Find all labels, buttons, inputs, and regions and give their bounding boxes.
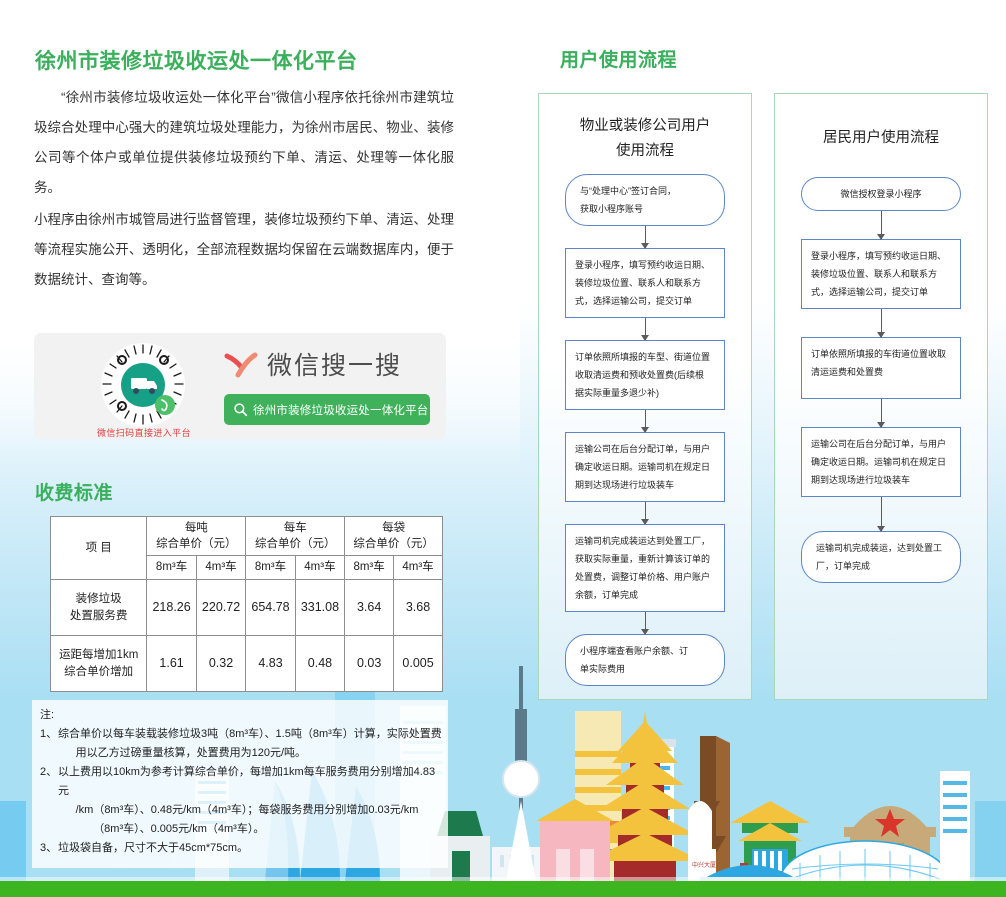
note-index-2: 2、 [40,763,58,839]
header-sub-4: 8m³车 [345,556,394,580]
fee-notes: 注: 1、 综合单价以每车装载装修垃圾3吨（8m³车）、1.5吨（8m³车）计算… [32,700,448,868]
note-text-2: 以上费用以10km为参考计算综合单价，每增加1km每车服务费用分别增加4.83元… [58,763,444,839]
flow-panel-heading-company: 物业或装修公司用户 使用流程 [539,114,751,164]
list-item: 2、 以上费用以10km为参考计算综合单价，每增加1km每车服务费用分别增加4.… [36,763,444,839]
flow-node-company-0: 与“处理中心”签订合同， 获取小程序账号 [565,174,725,226]
flow-arrow [645,612,646,634]
note-text-1: 综合单价以每车装载装修垃圾3吨（8m³车）、1.5吨（8m³车）计算，实际处置费… [58,725,444,763]
fee-table: 项 目 每吨 综合单价（元） 每车 综合单价（元） 每袋 综合单价（元） [50,516,443,692]
cell-1-2: 4.83 [246,636,295,692]
cell-1-1: 0.32 [196,636,245,692]
page-title: 徐州市装修垃圾收运处一体化平台 [35,45,358,75]
wechat-entry-card: 微信扫码直接进入平台 微信搜一搜 徐州市装修垃圾收运处一体化平台 [34,333,446,439]
cell-0-4: 3.64 [345,580,394,636]
flow-node-stack-resident: 微信授权登录小程序 登录小程序，填写预约收运日期、 装修垃圾位置、联系人和联系方… [775,177,987,583]
table-row: 装修垃圾 处置服务费 218.26 220.72 654.78 331.08 3… [51,580,443,636]
header-sub-2: 8m³车 [246,556,295,580]
cell-0-0: 218.26 [147,580,196,636]
cell-1-3: 0.48 [295,636,344,692]
cell-1-0: 1.61 [147,636,196,692]
wechat-search-block: 微信搜一搜 徐州市装修垃圾收运处一体化平台 [224,345,439,425]
flow-panel-resident: 居民用户使用流程 微信授权登录小程序 登录小程序，填写预约收运日期、 装修垃圾位… [774,93,988,700]
flow-node-stack-company: 与“处理中心”签订合同， 获取小程序账号 登录小程序，填写预约收运日期、 装修垃… [539,174,751,686]
flow-node-company-1: 登录小程序，填写预约收运日期、 装修垃圾位置、联系人和联系方 式，选择运输公司，… [565,248,725,318]
flow-node-resident-2: 订单依照所填报的车街道位置收取 清运运费和处置费 [801,337,961,399]
header-group-per-ton: 每吨 综合单价（元） [147,517,246,556]
header-item: 项 目 [51,517,147,580]
flow-arrow [645,318,646,340]
header-sub-3: 4m³车 [295,556,344,580]
flow-arrow [645,502,646,524]
intro-paragraph-1: “徐州市装修垃圾收运处一体化平台”微信小程序依托徐州市建筑垃圾综合处理中心强大的… [34,83,454,203]
header-group-per-vehicle: 每车 综合单价（元） [246,517,345,556]
cell-0-5: 3.68 [394,580,443,636]
flow-arrow [645,410,646,432]
flow-arrow [881,399,882,427]
sou-yi-sou-logo-icon [224,351,258,381]
note-index-3: 3、 [40,839,58,858]
note-index-1: 1、 [40,725,58,763]
cell-0-3: 331.08 [295,580,344,636]
cell-0-2: 654.78 [246,580,295,636]
flow-node-company-2: 订单依照所填报的车型、街道位置 收取清运费和预收处置费(后续根 据实际重量多退少… [565,340,725,410]
flow-node-resident-4: 运输司机完成装运，达到处置工 厂，订单完成 [801,531,961,583]
fee-section-title: 收费标准 [35,478,113,505]
list-item: 1、 综合单价以每车装载装修垃圾3吨（8m³车）、1.5吨（8m³车）计算，实际… [36,725,444,763]
bottom-green-strip [0,881,1006,897]
header-sub-1: 4m³车 [196,556,245,580]
wechat-search-button[interactable]: 徐州市装修垃圾收运处一体化平台 [224,394,430,425]
header-sub-5: 4m³车 [394,556,443,580]
wechat-search-label: 徐州市装修垃圾收运处一体化平台 [253,402,429,418]
cell-1-4: 0.03 [345,636,394,692]
cell-0-1: 220.72 [196,580,245,636]
flow-node-company-3: 运输公司在后台分配订单，与用户 确定收运日期。运输司机在规定日 期到达现场进行垃… [565,432,725,502]
left-column: 徐州市装修垃圾收运处一体化平台 “徐州市装修垃圾收运处一体化平台”微信小程序依托… [0,0,500,897]
header-group-per-bag: 每袋 综合单价（元） [345,517,443,556]
flow-node-company-4: 运输司机完成装运达到处置工厂， 获取实际重量，重新计算该订单的 处置费，调整订单… [565,524,725,612]
qr-caption: 微信扫码直接进入平台 [54,426,234,439]
flow-node-resident-0: 微信授权登录小程序 [801,177,961,211]
row-label-0: 装修垃圾 处置服务费 [51,580,147,636]
flow-arrow [881,309,882,337]
svg-text:中兴大厦: 中兴大厦 [692,861,716,869]
intro-body: “徐州市装修垃圾收运处一体化平台”微信小程序依托徐州市建筑垃圾综合处理中心强大的… [34,83,454,297]
flow-panel-company: 物业或装修公司用户 使用流程 与“处理中心”签订合同， 获取小程序账号 登录小程… [538,93,752,700]
flow-panel-heading-resident: 居民用户使用流程 [775,126,987,151]
flow-node-resident-3: 运输公司在后台分配订单，与用户 确定收运日期。运输司机在规定日 期到达现场进行垃… [801,427,961,497]
intro-paragraph-2: 小程序由徐州市城管局进行监督管理，装修垃圾预约下单、清运、处理等流程实施公开、透… [34,205,454,295]
flow-arrow [645,226,646,248]
flow-node-resident-1: 登录小程序，填写预约收运日期、 装修垃圾位置、联系人和联系方 式，选择运输公司，… [801,239,961,309]
flow-node-company-5: 小程序端查看账户余额、订 单实际费用 [565,634,725,686]
row-label-1: 运距每增加1km 综合单价增加 [51,636,147,692]
flow-arrow [881,211,882,239]
header-sub-0: 8m³车 [147,556,196,580]
table-row: 运距每增加1km 综合单价增加 1.61 0.32 4.83 0.48 0.03… [51,636,443,692]
search-icon [233,402,248,417]
wechat-brand: 微信搜一搜 [224,345,439,387]
cell-1-5: 0.005 [394,636,443,692]
list-item: 3、 垃圾袋自备，尺寸不大于45cm*75cm。 [36,839,444,858]
flow-section-title: 用户使用流程 [560,45,677,72]
note-text-3: 垃圾袋自备，尺寸不大于45cm*75cm。 [58,839,444,858]
qr-code-icon[interactable] [100,342,186,428]
notes-heading: 注: [36,706,444,725]
table-header-row-1: 项 目 每吨 综合单价（元） 每车 综合单价（元） 每袋 综合单价（元） [51,517,443,556]
wechat-brand-text: 微信搜一搜 [267,354,402,379]
flow-arrow [881,497,882,531]
